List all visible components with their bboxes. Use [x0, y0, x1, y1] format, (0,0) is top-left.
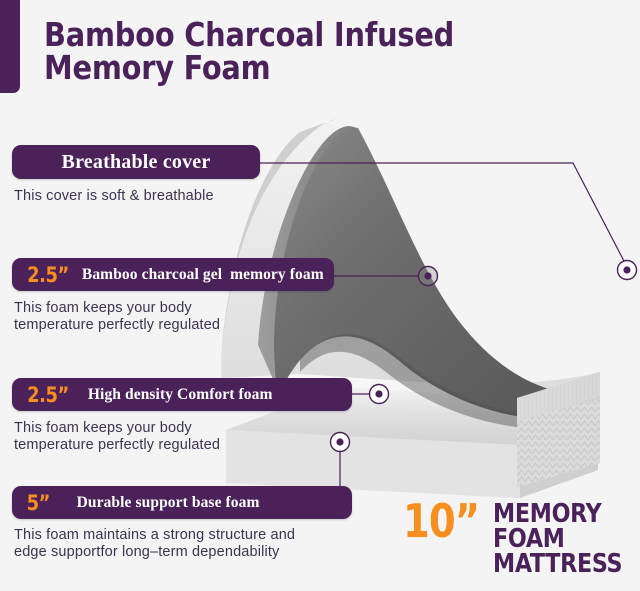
marker-breathable-cover	[618, 261, 637, 280]
headline-text: MEMORY FOAM MATTRESS	[493, 502, 633, 577]
callout-description-breathable-cover: This cover is soft & breathable	[14, 188, 314, 205]
callout-description-durable-support-base-foam: This foam maintains a strong structure a…	[14, 527, 374, 561]
callout-label-text: Breathable cover	[62, 151, 211, 174]
headline-thickness: 10”	[403, 500, 479, 542]
callout-label-breathable-cover[interactable]: Breathable cover	[12, 145, 260, 179]
page-title: Bamboo Charcoal Infused Memory Foam	[44, 18, 548, 84]
callout-thickness: 2.5”	[27, 383, 69, 407]
callout-label-high-density-comfort-foam[interactable]: 2.5” High density Comfort foam	[12, 378, 352, 411]
callout-label-text: High density Comfort foam	[88, 386, 273, 404]
callout-label-text: Bamboo charcoal gel memory foam	[82, 266, 324, 284]
infographic-canvas: Bamboo Charcoal Infused Memory Foam Brea…	[0, 0, 640, 591]
header-accent-bar	[0, 0, 20, 93]
headline-line1: MEMORY FOAM	[493, 499, 601, 554]
page-title-line2: Memory Foam	[44, 48, 270, 87]
product-headline: 10” MEMORY FOAM MATTRESS	[403, 500, 640, 577]
callout-label-durable-support-base-foam[interactable]: 5” Durable support base foam	[12, 486, 352, 519]
marker-gel-foam	[419, 267, 438, 286]
callout-label-text: Durable support base foam	[77, 494, 260, 512]
callout-label-bamboo-charcoal-gel-memory-foam[interactable]: 2.5” Bamboo charcoal gel memory foam	[12, 258, 334, 291]
marker-base-foam	[331, 433, 350, 452]
headline-line2: MATTRESS	[493, 549, 622, 579]
callout-description-bamboo-charcoal-gel-memory-foam: This foam keeps your body temperature pe…	[14, 300, 324, 334]
callout-description-high-density-comfort-foam: This foam keeps your body temperature pe…	[14, 420, 324, 454]
marker-comfort-foam	[370, 385, 389, 404]
callout-thickness: 5”	[27, 491, 50, 515]
callout-thickness: 2.5”	[27, 263, 69, 287]
